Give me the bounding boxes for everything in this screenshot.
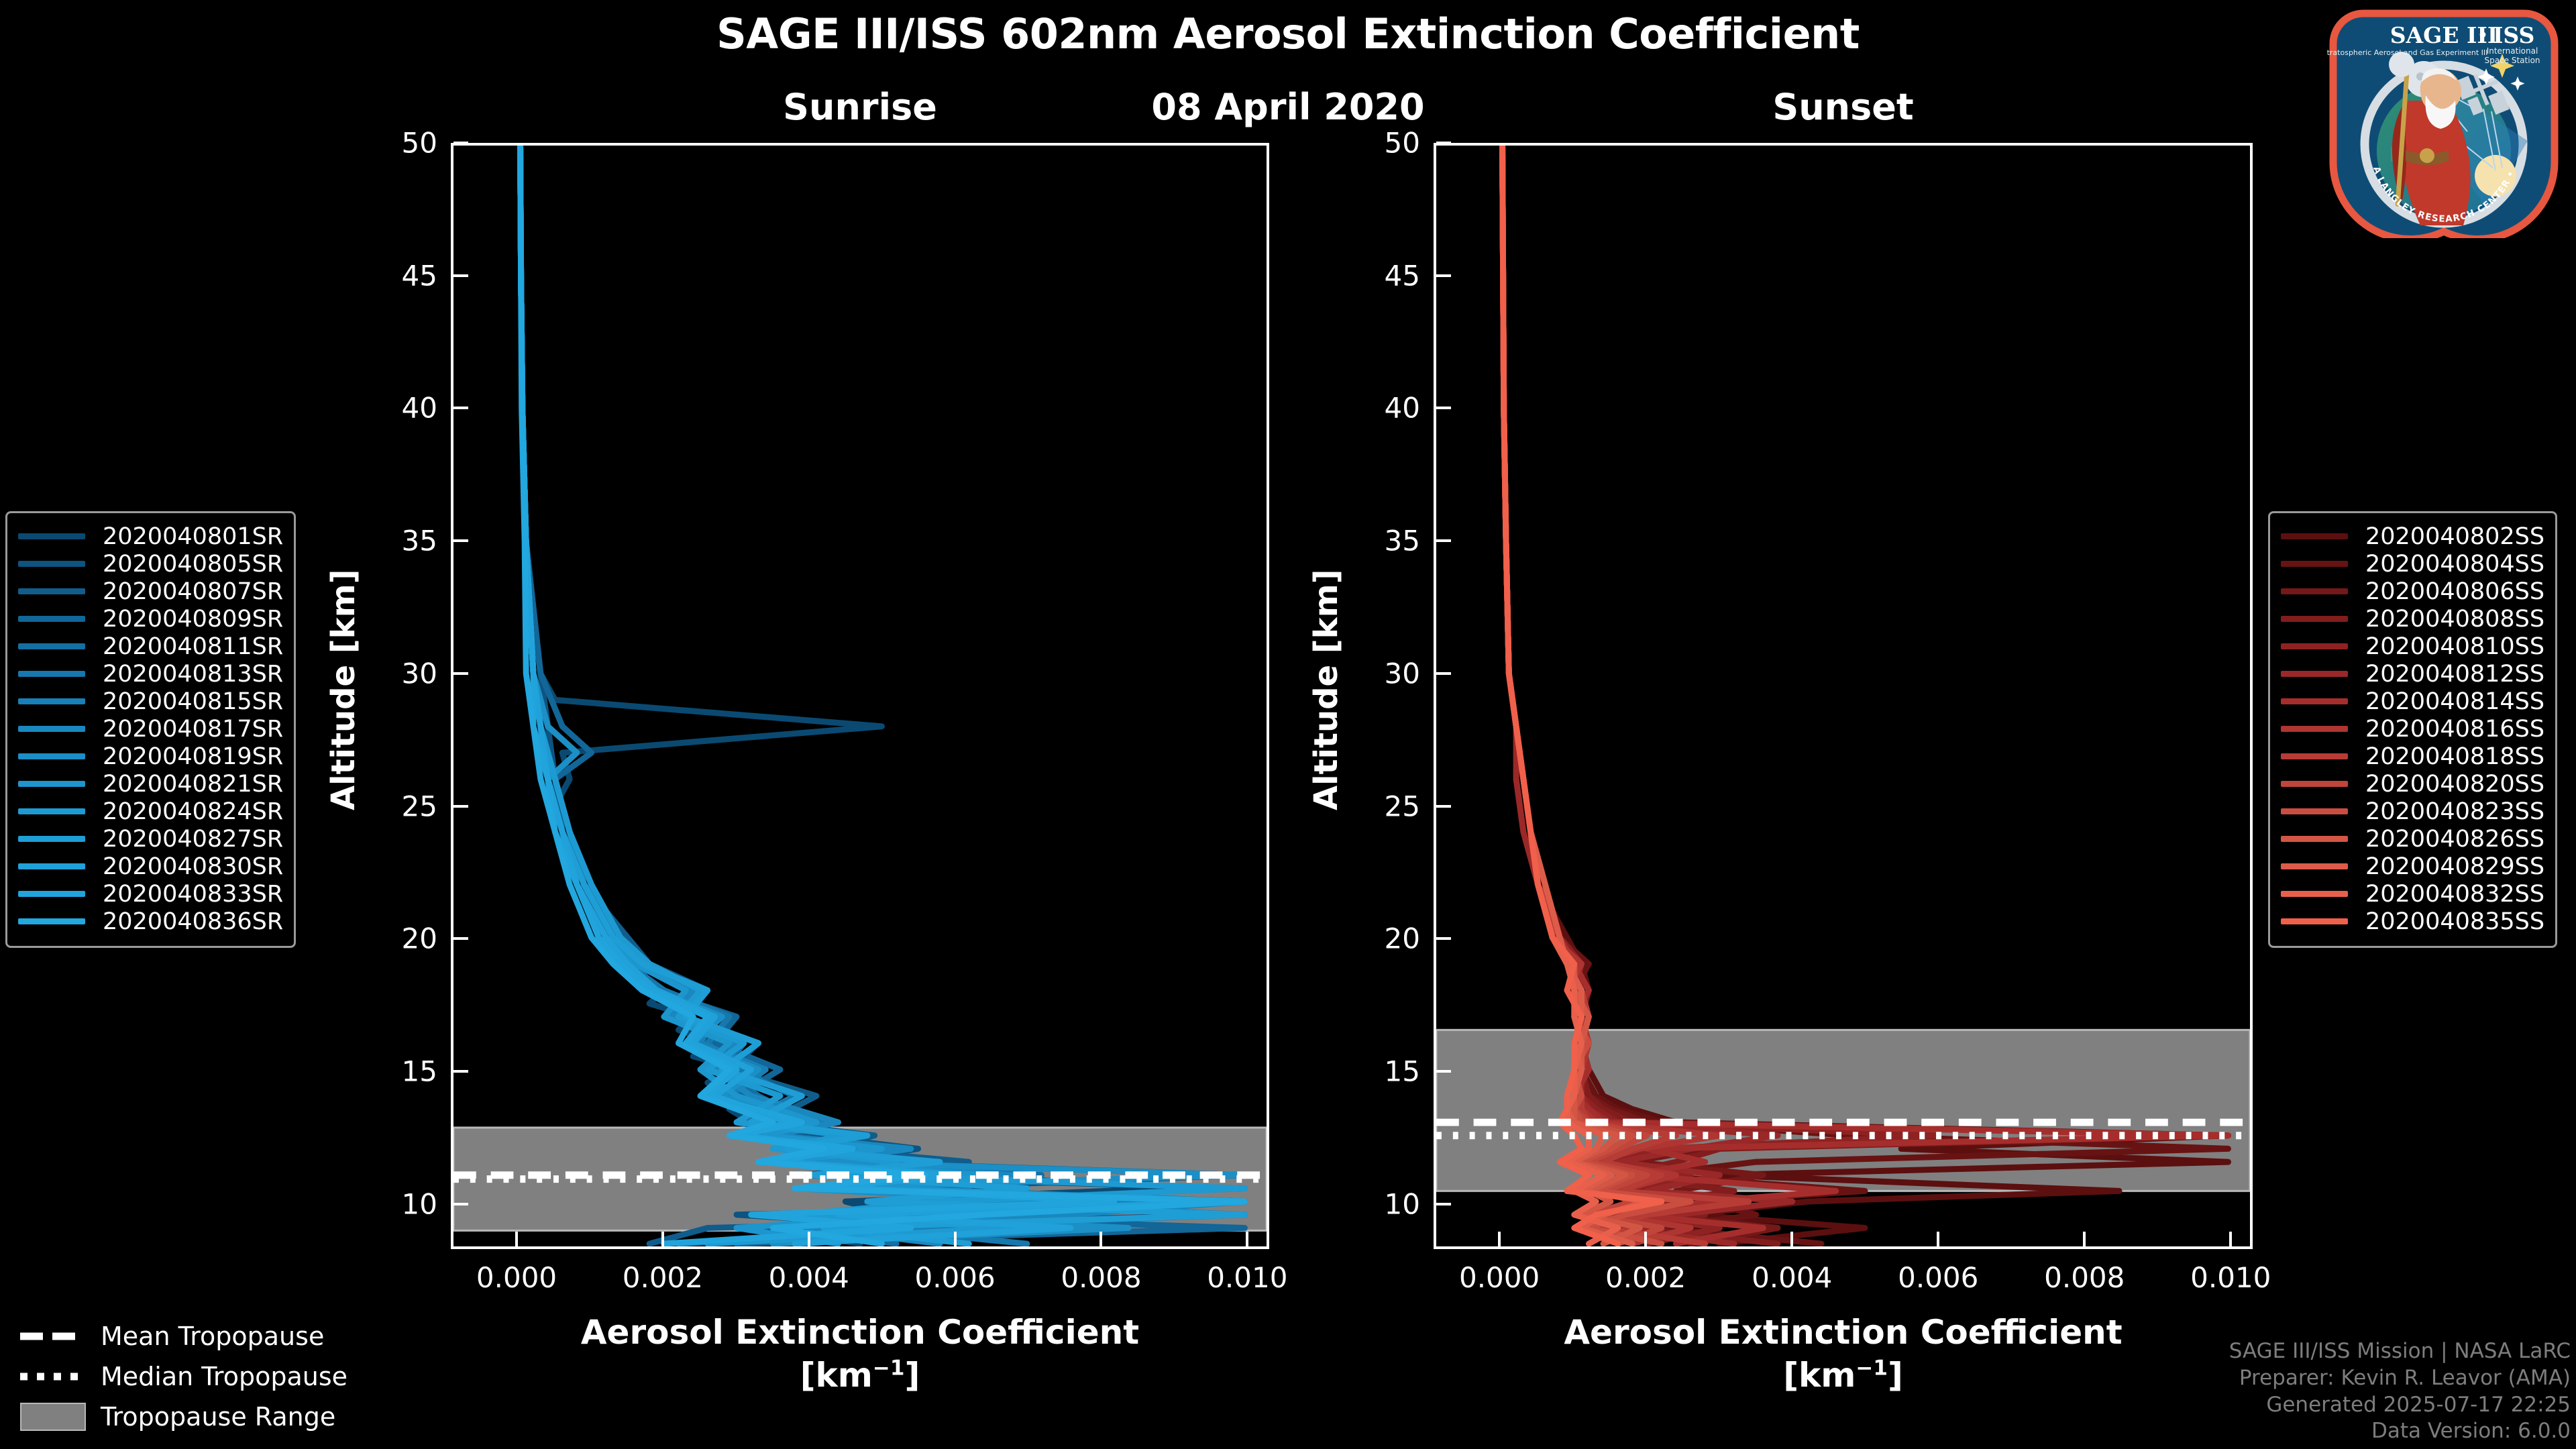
sunrise-legend-item[interactable]: 2020040817SR bbox=[18, 715, 283, 743]
y-axis-tick-label: 45 bbox=[364, 259, 437, 292]
sunset-legend-item[interactable]: 2020040812SS bbox=[2281, 660, 2544, 688]
legend-item-label: 2020040801SR bbox=[103, 523, 283, 550]
legend-item-label: 2020040810SS bbox=[2365, 633, 2544, 660]
profile-line bbox=[521, 146, 1245, 1244]
sunset-legend-item[interactable]: 2020040826SS bbox=[2281, 825, 2544, 853]
legend-item-label: 2020040816SS bbox=[2365, 716, 2544, 743]
legend-item-label: 2020040835SS bbox=[2365, 908, 2544, 935]
legend-color-swatch bbox=[2281, 726, 2348, 732]
legend-label-tropopause-range: Tropopause Range bbox=[101, 1402, 335, 1432]
legend-item-label: 2020040815SR bbox=[103, 688, 283, 715]
legend-color-swatch bbox=[18, 726, 85, 732]
legend-color-swatch bbox=[18, 561, 85, 567]
x-axis-tick-label: 0.008 bbox=[1061, 1261, 1141, 1294]
x-axis-tick-label: 0.000 bbox=[476, 1261, 557, 1294]
credit-line-generated: Generated 2025-07-17 22:25 bbox=[2229, 1392, 2571, 1419]
x-axis-tick-label: 0.008 bbox=[2044, 1261, 2125, 1294]
legend-item-median-tropopause: Median Tropopause bbox=[20, 1356, 347, 1397]
legend-item-label: 2020040827SR bbox=[103, 826, 283, 853]
legend-color-swatch bbox=[18, 836, 85, 842]
legend-color-swatch bbox=[18, 588, 85, 594]
legend-color-swatch bbox=[18, 781, 85, 787]
x-axis-tick-label: 0.006 bbox=[1898, 1261, 1978, 1294]
x-axis-tick-label: 0.004 bbox=[769, 1261, 849, 1294]
y-axis-tick-label: 25 bbox=[364, 790, 437, 822]
legend-color-swatch bbox=[18, 698, 85, 704]
sunrise-legend-item[interactable]: 2020040836SR bbox=[18, 908, 283, 935]
sunset-legend-item[interactable]: 2020040816SS bbox=[2281, 715, 2544, 743]
y-axis-tick-label: 45 bbox=[1346, 259, 1420, 292]
x-axis-title: Aerosol Extinction Coefficient[km−1] bbox=[451, 1311, 1269, 1397]
legend-item-label: 2020040813SR bbox=[103, 661, 283, 688]
logo-subtitle-right-1: International bbox=[2487, 46, 2538, 56]
legend-item-label: 2020040824SR bbox=[103, 798, 283, 825]
legend-color-swatch bbox=[2281, 533, 2348, 539]
legend-color-swatch bbox=[2281, 616, 2348, 622]
legend-color-swatch bbox=[18, 918, 85, 924]
sunset-legend-item[interactable]: 2020040810SS bbox=[2281, 633, 2544, 660]
legend-item-label: 2020040806SS bbox=[2365, 578, 2544, 605]
dashed-line-icon bbox=[20, 1328, 86, 1345]
sunrise-plot-canvas bbox=[453, 146, 1267, 1246]
sunset-legend-item[interactable]: 2020040818SS bbox=[2281, 743, 2544, 770]
x-axis-units: [km−1] bbox=[1783, 1356, 1903, 1395]
logo-subtitle-left: Stratospheric Aerosol and Gas Experiment… bbox=[2326, 48, 2487, 57]
x-axis-units: [km−1] bbox=[800, 1356, 920, 1395]
legend-item-tropopause-range: Tropopause Range bbox=[20, 1397, 347, 1437]
x-axis-tick-label: 0.002 bbox=[1605, 1261, 1686, 1294]
x-axis-tick-label: 0.002 bbox=[623, 1261, 703, 1294]
legend-item-label: 2020040826SS bbox=[2365, 826, 2544, 853]
sunset-legend-item[interactable]: 2020040835SS bbox=[2281, 908, 2544, 935]
legend-item-label: 2020040833SR bbox=[103, 881, 283, 908]
sunrise-legend-item[interactable]: 2020040819SR bbox=[18, 743, 283, 770]
legend-item-mean-tropopause: Mean Tropopause bbox=[20, 1316, 347, 1356]
legend-color-swatch bbox=[2281, 698, 2348, 704]
y-axis-tick-label: 50 bbox=[364, 127, 437, 160]
sunrise-legend-item[interactable]: 2020040801SR bbox=[18, 523, 283, 550]
legend-label-mean-tropopause: Mean Tropopause bbox=[101, 1322, 324, 1351]
sunset-legend-item[interactable]: 2020040804SS bbox=[2281, 550, 2544, 578]
legend-item-label: 2020040823SS bbox=[2365, 798, 2544, 825]
profile-line bbox=[521, 146, 1245, 1244]
legend-item-label: 2020040832SS bbox=[2365, 881, 2544, 908]
x-axis-title: Aerosol Extinction Coefficient[km−1] bbox=[1434, 1311, 2253, 1397]
legend-color-swatch bbox=[18, 616, 85, 622]
y-axis-tick-label: 20 bbox=[364, 922, 437, 955]
sunrise-legend-item[interactable]: 2020040833SR bbox=[18, 880, 283, 908]
y-axis-tick-label: 40 bbox=[364, 392, 437, 425]
legend-color-swatch bbox=[2281, 863, 2348, 869]
sunset-legend-item[interactable]: 2020040832SS bbox=[2281, 880, 2544, 908]
y-axis-tick-label: 25 bbox=[1346, 790, 1420, 822]
legend-item-label: 2020040829SS bbox=[2365, 853, 2544, 880]
profile-line bbox=[521, 146, 1245, 1244]
x-axis-tick-label: 0.000 bbox=[1459, 1261, 1540, 1294]
legend-color-swatch bbox=[2281, 808, 2348, 814]
y-axis-tick-label: 10 bbox=[364, 1187, 437, 1220]
dotted-line-icon bbox=[20, 1368, 86, 1385]
sunset-legend-item[interactable]: 2020040814SS bbox=[2281, 688, 2544, 715]
sage-iii-iss-mission-patch-logo: SAGE III ISS • Stratospheric Aerosol and… bbox=[2326, 7, 2561, 238]
sunrise-legend-item[interactable]: 2020040811SR bbox=[18, 633, 283, 660]
x-axis-tick-label: 0.006 bbox=[914, 1261, 995, 1294]
credit-line-preparer: Preparer: Kevin R. Leavor (AMA) bbox=[2229, 1365, 2571, 1392]
y-axis-tick-label: 35 bbox=[1346, 525, 1420, 557]
legend-item-label: 2020040809SR bbox=[103, 606, 283, 633]
tropopause-legend: Mean Tropopause Median Tropopause Tropop… bbox=[20, 1316, 347, 1437]
logo-title-dot: • bbox=[2477, 24, 2489, 48]
legend-item-label: 2020040805SR bbox=[103, 551, 283, 578]
legend-item-label: 2020040821SR bbox=[103, 771, 283, 798]
legend-color-swatch bbox=[2281, 918, 2348, 924]
sunrise-legend-item[interactable]: 2020040824SR bbox=[18, 798, 283, 825]
sunrise-legend-item[interactable]: 2020040813SR bbox=[18, 660, 283, 688]
filled-band-icon bbox=[20, 1403, 86, 1431]
logo-title-iss: ISS bbox=[2493, 22, 2534, 48]
y-axis-tick-label: 40 bbox=[1346, 392, 1420, 425]
right-panel-title: Sunset bbox=[1434, 86, 2253, 128]
credit-line-mission: SAGE III/ISS Mission | NASA LaRC bbox=[2229, 1338, 2571, 1365]
legend-color-swatch bbox=[18, 753, 85, 759]
profile-line bbox=[521, 146, 1245, 1244]
legend-color-swatch bbox=[18, 863, 85, 869]
sunrise-legend-item[interactable]: 2020040830SR bbox=[18, 853, 283, 880]
legend-color-swatch bbox=[2281, 891, 2348, 897]
profile-line bbox=[521, 146, 1245, 1244]
profile-line bbox=[521, 146, 1245, 1244]
logo-subtitle-right-2: Space Station bbox=[2484, 56, 2540, 65]
legend-color-swatch bbox=[2281, 836, 2348, 842]
legend-item-label: 2020040836SR bbox=[103, 908, 283, 935]
legend-color-swatch bbox=[18, 891, 85, 897]
legend-item-label: 2020040818SS bbox=[2365, 743, 2544, 770]
y-axis-tick-label: 15 bbox=[364, 1055, 437, 1088]
y-axis-tick-label: 30 bbox=[1346, 657, 1420, 690]
sunrise-legend-item[interactable]: 2020040809SR bbox=[18, 605, 283, 633]
legend-item-label: 2020040812SS bbox=[2365, 661, 2544, 688]
legend-item-label: 2020040802SS bbox=[2365, 523, 2544, 550]
legend-item-label: 2020040817SR bbox=[103, 716, 283, 743]
legend-color-swatch bbox=[2281, 671, 2348, 677]
y-axis-tick-label: 20 bbox=[1346, 922, 1420, 955]
credit-line-version: Data Version: 6.0.0 bbox=[2229, 1418, 2571, 1445]
credits-block: SAGE III/ISS Mission | NASA LaRC Prepare… bbox=[2229, 1338, 2571, 1445]
sunset-legend-item[interactable]: 2020040829SS bbox=[2281, 853, 2544, 880]
sunrise-legend-item[interactable]: 2020040805SR bbox=[18, 550, 283, 578]
sunset-legend-item[interactable]: 2020040802SS bbox=[2281, 523, 2544, 550]
legend-color-swatch bbox=[2281, 643, 2348, 649]
sunset-plot-area bbox=[1434, 143, 2253, 1249]
sunset-legend-item[interactable]: 2020040806SS bbox=[2281, 578, 2544, 605]
sunrise-legend-item[interactable]: 2020040821SR bbox=[18, 770, 283, 798]
profile-line bbox=[521, 146, 1187, 1244]
profile-line bbox=[521, 146, 1173, 1244]
x-axis-tick-label: 0.010 bbox=[1207, 1261, 1287, 1294]
legend-color-swatch bbox=[2281, 588, 2348, 594]
legend-color-swatch bbox=[18, 643, 85, 649]
y-axis-tick-label: 30 bbox=[364, 657, 437, 690]
x-axis-title-text: Aerosol Extinction Coefficient bbox=[581, 1313, 1139, 1352]
legend-color-swatch bbox=[18, 808, 85, 814]
legend-item-label: 2020040804SS bbox=[2365, 551, 2544, 578]
sunrise-legend-item[interactable]: 2020040815SR bbox=[18, 688, 283, 715]
legend-color-swatch bbox=[2281, 781, 2348, 787]
y-axis-tick-label: 15 bbox=[1346, 1055, 1420, 1088]
x-axis-title-text: Aerosol Extinction Coefficient bbox=[1564, 1313, 2122, 1352]
legend-item-label: 2020040819SR bbox=[103, 743, 283, 770]
legend-item-label: 2020040814SS bbox=[2365, 688, 2544, 715]
y-axis-title: Altitude [km] bbox=[1307, 569, 1345, 810]
page-title: SAGE III/ISS 602nm Aerosol Extinction Co… bbox=[0, 9, 2576, 58]
profile-line bbox=[521, 146, 1245, 1244]
legend-item-label: 2020040830SR bbox=[103, 853, 283, 880]
y-axis-tick-label: 50 bbox=[1346, 127, 1420, 160]
sunset-legend-item[interactable]: 2020040808SS bbox=[2281, 605, 2544, 633]
legend-item-label: 2020040811SR bbox=[103, 633, 283, 660]
legend-item-label: 2020040820SS bbox=[2365, 771, 2544, 798]
sunrise-plot-area bbox=[451, 143, 1269, 1249]
legend-item-label: 2020040807SR bbox=[103, 578, 283, 605]
x-axis-tick-label: 0.010 bbox=[2190, 1261, 2271, 1294]
y-axis-tick-label: 10 bbox=[1346, 1187, 1420, 1220]
legend-color-swatch bbox=[18, 671, 85, 677]
y-axis-title: Altitude [km] bbox=[325, 569, 362, 810]
sunset-legend-item[interactable]: 2020040820SS bbox=[2281, 770, 2544, 798]
sunset-plot-canvas bbox=[1436, 146, 2250, 1246]
sunrise-legend-item[interactable]: 2020040807SR bbox=[18, 578, 283, 605]
legend-color-swatch bbox=[2281, 561, 2348, 567]
profile-line bbox=[521, 146, 1245, 1244]
x-axis-tick-label: 0.004 bbox=[1752, 1261, 1832, 1294]
y-axis-tick-label: 35 bbox=[364, 525, 437, 557]
legend-color-swatch bbox=[2281, 753, 2348, 759]
sunrise-legend[interactable]: 2020040801SR2020040805SR2020040807SR2020… bbox=[5, 511, 296, 948]
profile-line bbox=[521, 146, 1245, 1244]
profile-line bbox=[521, 146, 1114, 1244]
sunrise-legend-item[interactable]: 2020040827SR bbox=[18, 825, 283, 853]
profile-line bbox=[521, 146, 1245, 1244]
legend-color-swatch bbox=[18, 533, 85, 539]
sunset-legend[interactable]: 2020040802SS2020040804SS2020040806SS2020… bbox=[2268, 511, 2557, 948]
left-panel-title: Sunrise bbox=[451, 86, 1269, 128]
legend-label-median-tropopause: Median Tropopause bbox=[101, 1362, 347, 1391]
legend-item-label: 2020040808SS bbox=[2365, 606, 2544, 633]
sunset-legend-item[interactable]: 2020040823SS bbox=[2281, 798, 2544, 825]
profile-line bbox=[521, 146, 1245, 1244]
profile-line bbox=[521, 146, 1245, 1244]
